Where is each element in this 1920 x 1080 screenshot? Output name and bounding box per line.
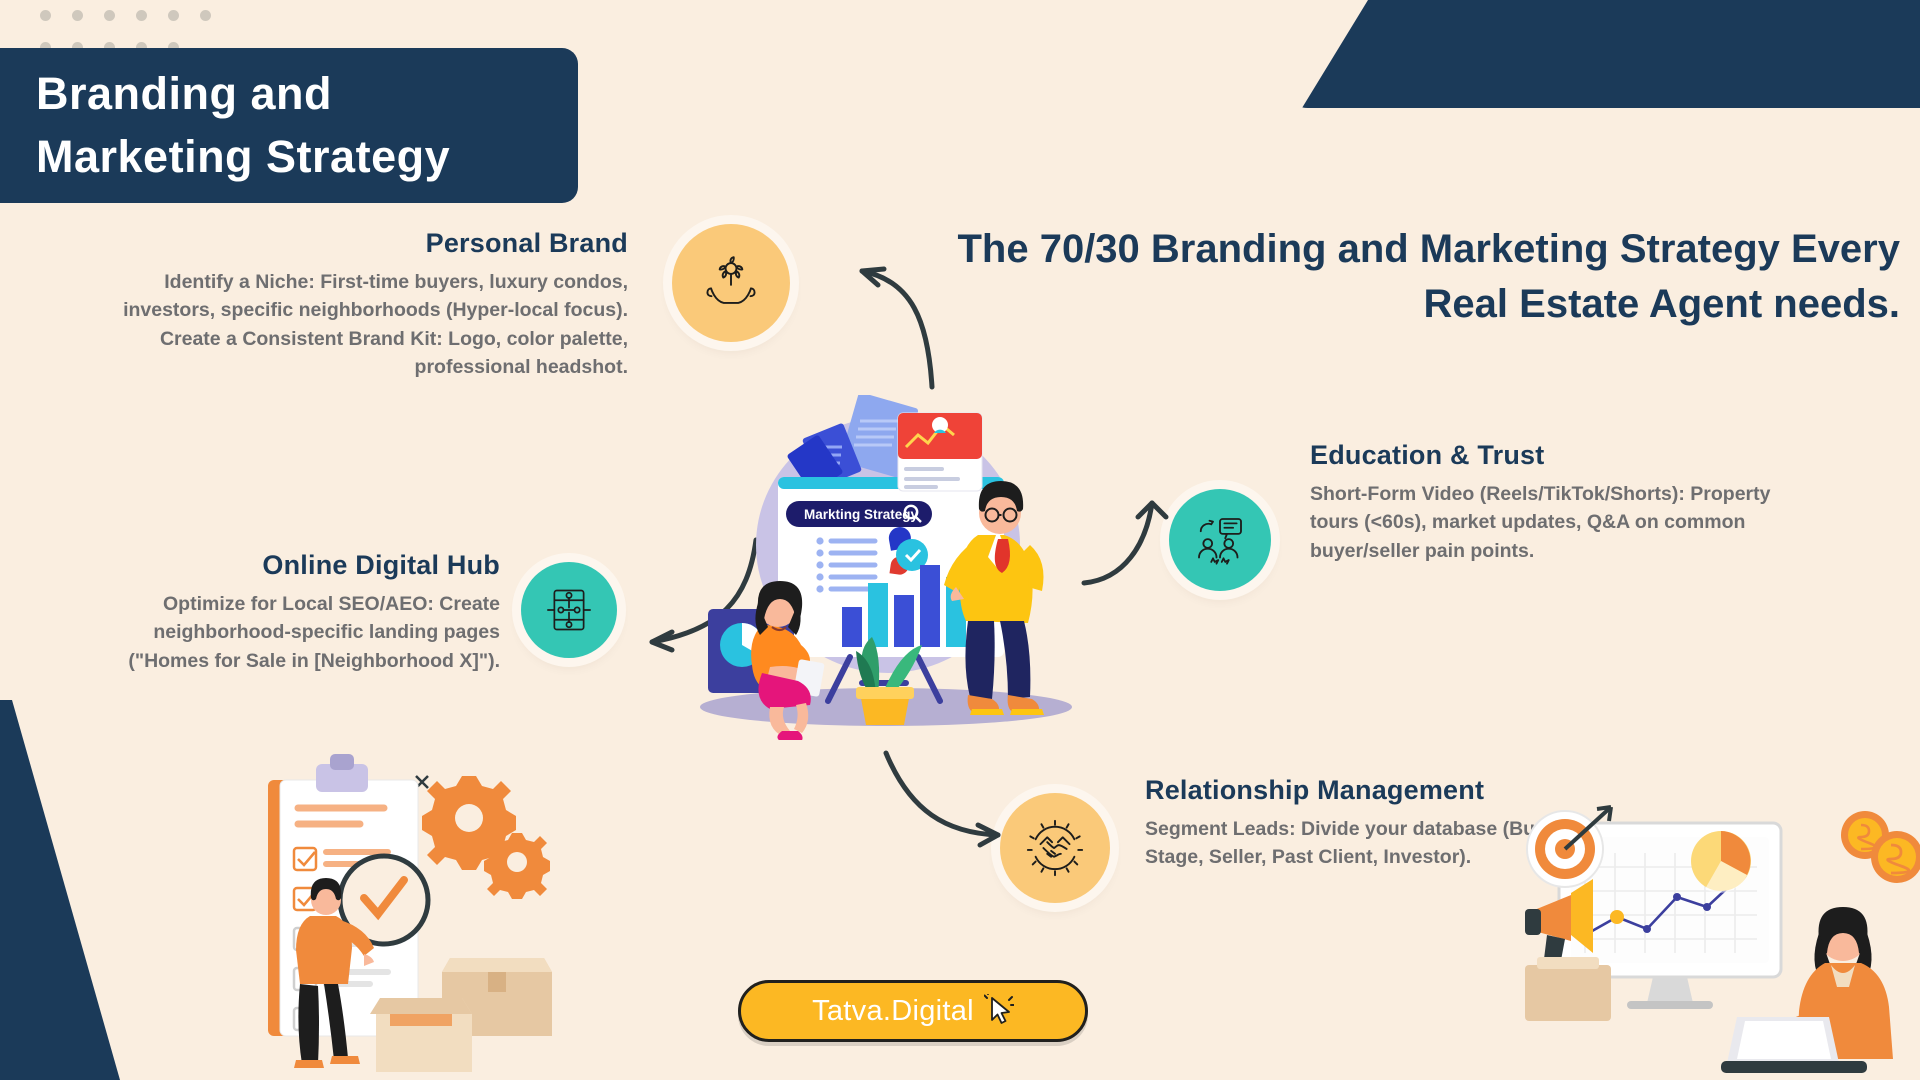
- search-bar: Markting Strategy: [786, 501, 932, 527]
- click-cursor-icon: [984, 994, 1014, 1028]
- dot: [40, 10, 51, 21]
- section-heading-education-trust: Education & Trust: [1310, 440, 1780, 471]
- arrow-to-personal-brand: [820, 255, 950, 400]
- dot: [200, 10, 211, 21]
- section-body-online-digital-hub: Optimize for Local SEO/AEO: Create neigh…: [100, 590, 500, 675]
- tatva-digital-button-label: Tatva.Digital: [812, 995, 974, 1028]
- coin-stack: [1841, 811, 1920, 883]
- section-online-digital-hub: Online Digital Hub Optimize for Local SE…: [100, 550, 500, 675]
- analytics-dashboard-illustration: [1525, 805, 1920, 1080]
- checklist-inspection-illustration: [260, 742, 580, 1072]
- icon-bubble-relationship-management: [1000, 793, 1110, 903]
- tatva-digital-button[interactable]: Tatva.Digital: [738, 980, 1088, 1042]
- search-bar-text: Markting Strategy: [804, 507, 919, 522]
- section-personal-brand: Personal Brand Identify a Niche: First-t…: [108, 228, 628, 381]
- navy-corner-shape-top-right: [1280, 0, 1920, 108]
- section-heading-relationship-management: Relationship Management: [1145, 775, 1565, 806]
- main-headline: The 70/30 Branding and Marketing Strateg…: [940, 222, 1900, 332]
- review-chat-icon: [1192, 512, 1248, 568]
- section-body-relationship-management: Segment Leads: Divide your database (Buy…: [1145, 815, 1565, 872]
- infographic-canvas: Branding and Marketing Strategy The 70/3…: [0, 0, 1920, 1080]
- section-body-education-trust: Short-Form Video (Reels/TikTok/Shorts): …: [1310, 480, 1780, 565]
- icon-bubble-education-trust: [1169, 489, 1271, 591]
- section-relationship-management: Relationship Management Segment Leads: D…: [1145, 775, 1565, 872]
- chart-card: [898, 413, 982, 491]
- section-education-trust: Education & Trust Short-Form Video (Reel…: [1310, 440, 1780, 565]
- dot: [168, 10, 179, 21]
- section-heading-online-digital-hub: Online Digital Hub: [100, 550, 500, 581]
- dot: [72, 10, 83, 21]
- dot: [136, 10, 147, 21]
- page-title-plate: Branding and Marketing Strategy: [0, 48, 578, 203]
- page-title-line-2: Marketing Strategy: [36, 126, 578, 188]
- section-body-personal-brand: Identify a Niche: First-time buyers, lux…: [108, 268, 628, 381]
- section-heading-personal-brand: Personal Brand: [108, 228, 628, 259]
- icon-bubble-personal-brand: [672, 224, 790, 342]
- gear-decoration: [422, 776, 550, 899]
- handshake-gear-icon: [1024, 817, 1086, 879]
- arrow-to-relationship-management: [880, 745, 1010, 855]
- icon-bubble-online-digital-hub: [521, 562, 617, 658]
- navy-corner-shape-bottom-left: [0, 700, 120, 1080]
- page-title-line-1: Branding and: [36, 63, 578, 125]
- dot: [104, 10, 115, 21]
- plant-in-hands-icon: [702, 254, 760, 312]
- marketing-strategy-illustration: Markting Strategy: [700, 395, 1090, 740]
- network-nodes-icon: [543, 584, 595, 636]
